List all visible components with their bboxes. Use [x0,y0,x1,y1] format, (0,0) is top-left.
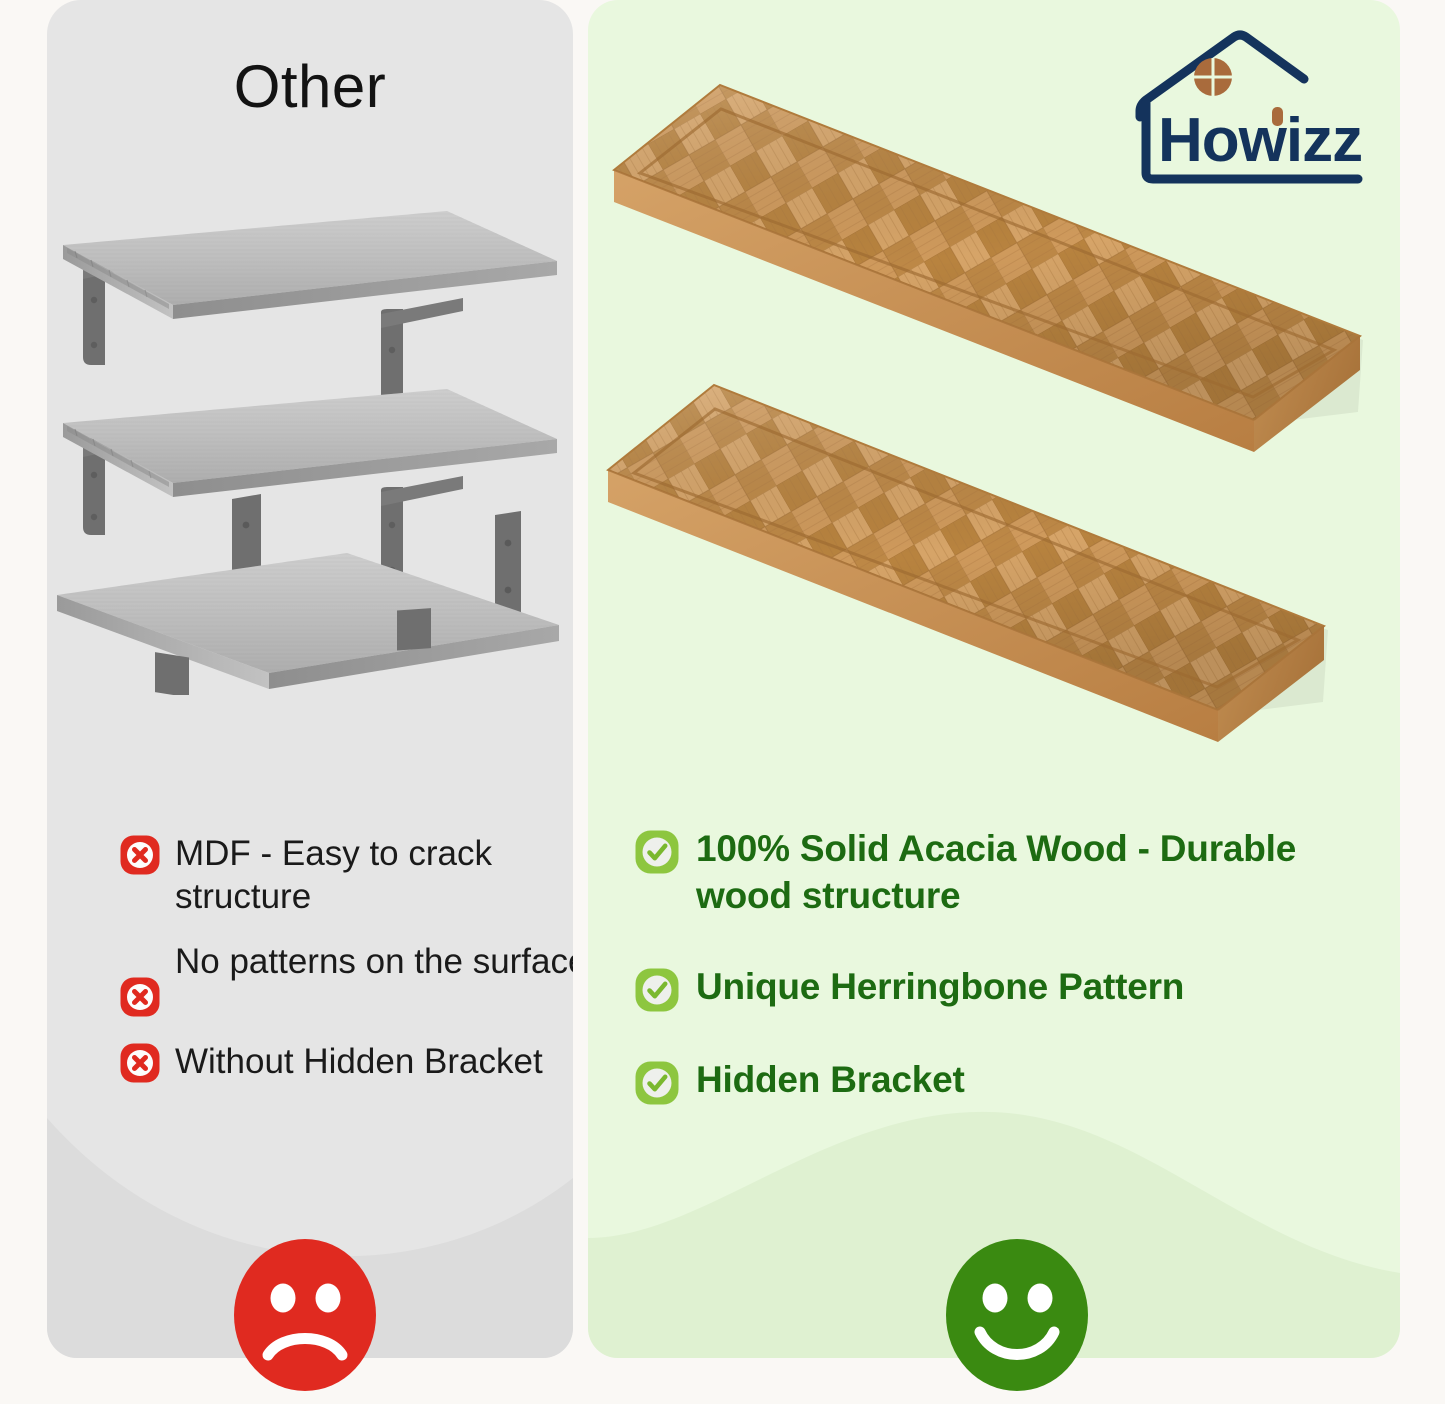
list-item: MDF - Easy to crack structure [119,832,573,918]
list-item-label: Hidden Bracket [696,1057,965,1104]
list-item: No patterns on the surface [119,940,573,1018]
list-item-label: Unique Herringbone Pattern [696,964,1184,1011]
red-x-icon [119,1042,161,1084]
list-item-label: MDF - Easy to crack structure [175,832,573,918]
other-product-panel: Other [47,0,573,1358]
sad-face-icon [230,1238,380,1393]
red-x-icon [119,834,161,876]
list-item-label: No patterns on the surface [175,940,573,984]
list-item: Unique Herringbone Pattern [634,964,1374,1013]
green-check-icon [634,829,680,875]
list-item: 100% Solid Acacia Wood - Durable wood st… [634,826,1374,920]
happy-face-icon [942,1238,1092,1393]
gray-mdf-shelves-image [47,205,573,695]
comparison-infographic: Other [0,0,1445,1404]
green-check-icon [634,967,680,1013]
red-x-icon [119,976,161,1018]
list-item-label: 100% Solid Acacia Wood - Durable wood st… [696,826,1374,920]
list-item: Without Hidden Bracket [119,1040,573,1084]
cons-list: MDF - Easy to crack structure No pattern… [119,832,573,1106]
page-title: Other [47,52,573,121]
gray-shelf-1 [63,211,557,420]
howizz-product-panel: Howizz [588,0,1400,1358]
green-check-icon [634,1060,680,1106]
gray-shelf-3 [57,494,559,695]
list-item: Hidden Bracket [634,1057,1374,1106]
list-item-label: Without Hidden Bracket [175,1040,543,1084]
acacia-wood-shelves-image [588,40,1400,800]
pros-list: 100% Solid Acacia Wood - Durable wood st… [634,826,1374,1150]
